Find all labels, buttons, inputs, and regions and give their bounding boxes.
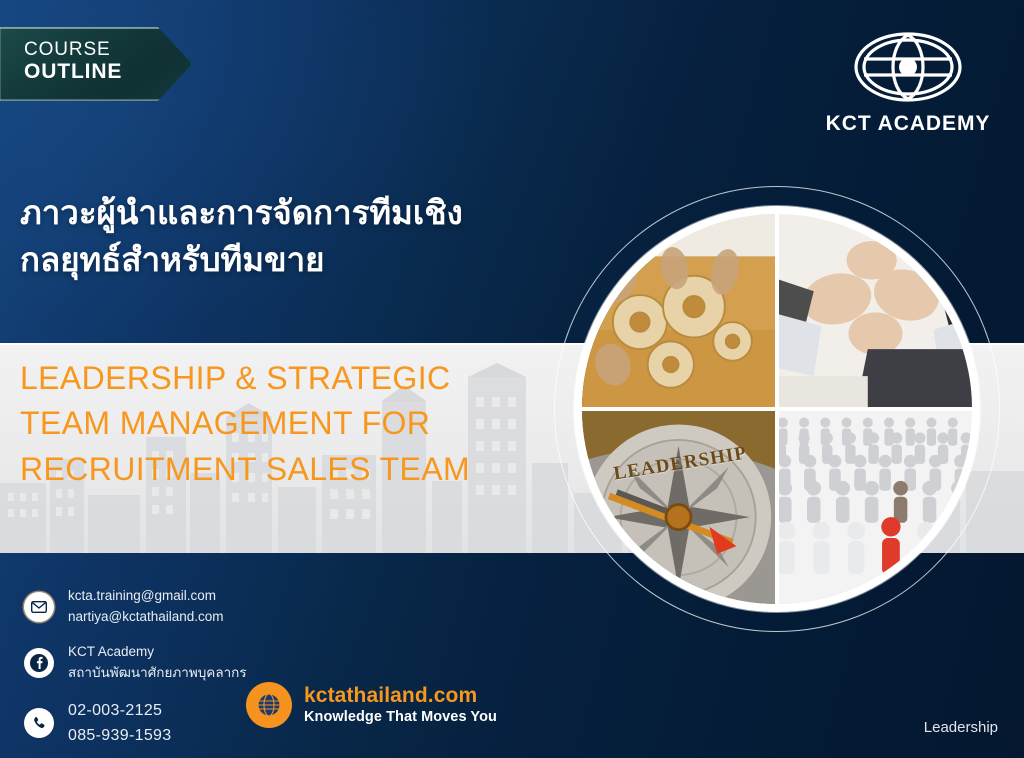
collage-quadrant-crowd-standout (779, 411, 972, 604)
globe-logo-icon (848, 28, 968, 106)
website-url[interactable]: kctathailand.com (304, 684, 497, 708)
facebook-page-name[interactable]: KCT Academy (68, 642, 247, 663)
envelope-icon (24, 592, 54, 622)
envelope-glyph (31, 601, 47, 613)
website-tagline: Knowledge That Moves You (304, 708, 497, 727)
english-title-line3: RECRUITMENT SALES TEAM (20, 447, 580, 492)
collage-quadrant-teamwork-gears (582, 214, 775, 407)
compass-illustration (582, 411, 775, 604)
badge-line1: COURSE (24, 39, 122, 60)
globe-icon (246, 682, 292, 728)
facebook-icon[interactable] (24, 648, 54, 678)
contact-row-email: kcta.training@gmail.com nartiya@kctathai… (24, 586, 247, 628)
collage-grid: LEADERSHIP (582, 214, 972, 604)
badge-text: COURSE OUTLINE (24, 39, 122, 84)
website-block[interactable]: kctathailand.com Knowledge That Moves Yo… (246, 682, 497, 728)
english-title-line2: TEAM MANAGEMENT FOR (20, 401, 580, 446)
globe-glyph (256, 692, 282, 718)
website-text[interactable]: kctathailand.com Knowledge That Moves Yo… (304, 684, 497, 727)
phone-lines: 02-003-2125 085-939-1593 (68, 698, 171, 749)
email-lines[interactable]: kcta.training@gmail.com nartiya@kctathai… (68, 586, 224, 628)
english-title-line1: LEADERSHIP & STRATEGIC (20, 356, 580, 401)
phone-2: 085-939-1593 (68, 723, 171, 749)
image-collage: LEADERSHIP (530, 170, 1024, 650)
crowd-illustration (779, 411, 972, 604)
contact-block: kcta.training@gmail.com nartiya@kctathai… (24, 586, 247, 758)
standout-figure (881, 517, 900, 575)
logo-text: KCT ACADEMY (818, 112, 998, 136)
contact-row-facebook[interactable]: KCT Academy สถาบันพัฒนาศักยภาพบุคลากร (24, 642, 247, 684)
email-2[interactable]: nartiya@kctathailand.com (68, 607, 224, 628)
fist-bump-illustration (779, 214, 972, 407)
email-1[interactable]: kcta.training@gmail.com (68, 586, 224, 607)
collage-quadrant-leadership-compass: LEADERSHIP (582, 411, 775, 604)
thai-title-line2: กลยุทธ์สำหรับทีมขาย (20, 237, 560, 284)
contact-row-phone: 02-003-2125 085-939-1593 (24, 698, 247, 749)
kct-academy-logo: KCT ACADEMY (818, 28, 998, 136)
course-outline-badge: COURSE OUTLINE (0, 27, 192, 101)
phone-glyph (32, 716, 47, 731)
phone-icon (24, 708, 54, 738)
thai-title-line1: ภาวะผู้นำและการจัดการทีมเชิง (20, 190, 560, 237)
facebook-page-subtitle[interactable]: สถาบันพัฒนาศักยภาพบุคลากร (68, 663, 247, 684)
thai-course-title: ภาวะผู้นำและการจัดการทีมเชิง กลยุทธ์สำหร… (20, 190, 560, 284)
facebook-glyph (30, 654, 48, 672)
footer-category-tag: Leadership (924, 719, 998, 736)
english-course-title: LEADERSHIP & STRATEGIC TEAM MANAGEMENT F… (20, 356, 580, 492)
gears-teamwork-illustration (582, 214, 775, 407)
facebook-lines[interactable]: KCT Academy สถาบันพัฒนาศักยภาพบุคลากร (68, 642, 247, 684)
phone-1: 02-003-2125 (68, 698, 171, 724)
badge-line2: OUTLINE (24, 60, 122, 84)
course-outline-poster: COURSE OUTLINE KCT ACADEMY ภาวะผู้นำและก… (0, 0, 1024, 758)
collage-quadrant-fist-bump (779, 214, 972, 407)
